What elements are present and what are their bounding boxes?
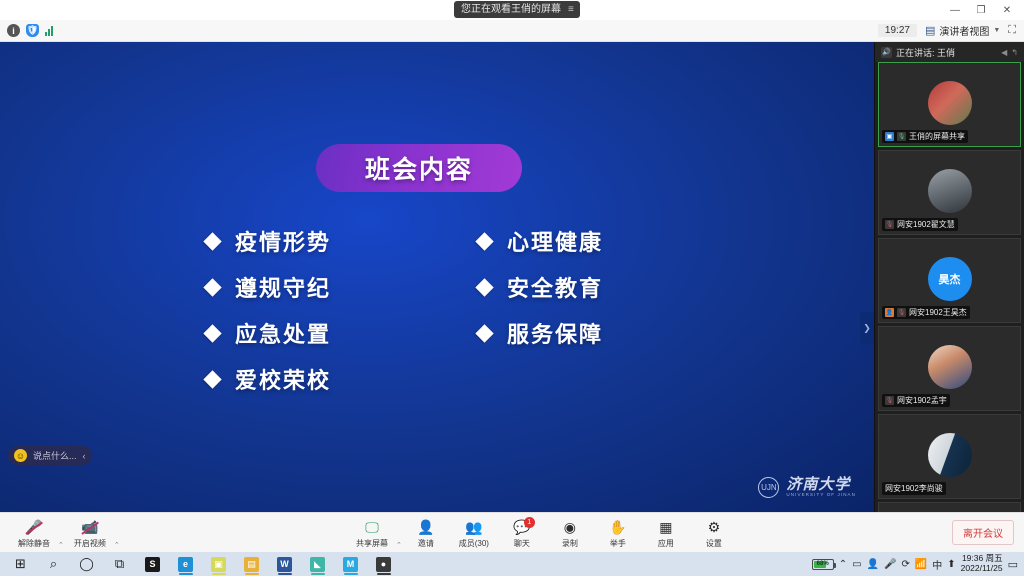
record-button[interactable]: ◉录制: [546, 516, 594, 549]
university-name-cn: 济南大学: [786, 477, 856, 493]
list-item: 遵规守纪: [206, 271, 478, 303]
minimize-button[interactable]: —: [942, 0, 968, 20]
invite-button-icon: 👤: [417, 519, 434, 536]
battery-percent: 68%: [813, 560, 833, 569]
keyboard-icon[interactable]: ▭: [852, 559, 861, 570]
meeting-info-icons: i 🛡: [0, 24, 53, 37]
running-indicator: [278, 573, 292, 575]
video-button-options-chevron-icon[interactable]: ⌃: [114, 541, 120, 549]
diamond-bullet-icon: [475, 232, 493, 250]
shared-screen-stage[interactable]: 班会内容 疫情形势 心理健康 遵规守纪 安全教育 应急处置: [0, 42, 874, 512]
active-speaker-header: 🔊 正在讲话: 王俏 ◀ ↰: [875, 42, 1024, 62]
participant-tile[interactable]: ▣🎙王俏的屏幕共享: [878, 62, 1021, 147]
info-icon[interactable]: i: [7, 24, 20, 37]
avatar: [928, 169, 972, 213]
participant-name-label: 👤🎙网安1902王昊杰: [882, 306, 970, 319]
university-seal-icon: UJN: [758, 477, 779, 498]
participant-name-label: 🎙网安1902孟宇: [882, 394, 950, 407]
running-indicator: [212, 573, 226, 575]
diamond-bullet-icon: [475, 324, 493, 342]
raise-hand-button[interactable]: ✋举手: [594, 516, 642, 549]
running-indicator: [245, 573, 259, 575]
signal-bars-icon[interactable]: [45, 25, 53, 36]
diamond-bullet-icon: [475, 278, 493, 296]
view-mode-label: 演讲者视图: [939, 23, 989, 38]
slide-bullet-grid: 疫情形势 心理健康 遵规守纪 安全教育 应急处置 服务保障: [206, 218, 706, 402]
photos-icon-glyph: ▣: [211, 557, 226, 572]
layout-icon: ▤: [925, 24, 935, 37]
xmind-icon[interactable]: M: [334, 552, 367, 576]
ime-icon[interactable]: 中: [932, 557, 942, 572]
participant-tile[interactable]: 昊杰👤🎙网安1902王昊杰: [878, 238, 1021, 323]
mute-button-options-chevron-icon[interactable]: ⌃: [58, 541, 64, 549]
search-icon[interactable]: ⌕: [37, 552, 70, 576]
participant-tile[interactable]: 🎙网安1902翟文慧: [878, 150, 1021, 235]
apps-button-label: 应用: [658, 538, 674, 549]
invite-button-label: 邀请: [418, 538, 434, 549]
mute-button[interactable]: 🎤解除静音: [10, 516, 58, 549]
screenshare-notice-pill[interactable]: 您正在观看王俏的屏幕 ≡: [454, 1, 580, 18]
word-icon-glyph: W: [277, 557, 292, 572]
chevron-up-icon[interactable]: ⌃: [839, 559, 847, 570]
participant-tile[interactable]: 网安1902李尚骏: [878, 414, 1021, 499]
host-icon: 👤: [885, 308, 894, 317]
avatar: 昊杰: [928, 257, 972, 301]
audio-video-controls: 🎤解除静音⌃📹开启视频⌃: [0, 516, 120, 549]
meeting-clock: 19:27: [878, 24, 917, 37]
running-indicator: [344, 573, 358, 575]
meeting-control-toolbar: 🎤解除静音⌃📹开启视频⌃ 🖵共享屏幕⌃👤邀请👥成员(30)💬1聊天◉录制✋举手▦…: [0, 512, 1024, 552]
list-item: 安全教育: [478, 271, 706, 303]
mini-chat-input-bar[interactable]: ☺ 说点什么... ‹: [8, 446, 92, 465]
participant-tile[interactable]: 🎙网安1902孟宇: [878, 326, 1021, 411]
list-item-label: 心理健康: [507, 225, 603, 257]
close-button[interactable]: ✕: [994, 0, 1020, 20]
cortana-icon[interactable]: ◯: [70, 552, 103, 576]
page-title: 班会内容: [365, 150, 473, 186]
unread-badge: 1: [524, 517, 535, 528]
user-icon[interactable]: 👤: [867, 559, 879, 570]
list-item: 应急处置: [206, 317, 478, 349]
participants-button-label: 成员(30): [459, 538, 489, 549]
shield-icon[interactable]: 🛡: [26, 24, 39, 37]
participant-name-label: 网安1902李尚骏: [882, 482, 946, 495]
mic-icon[interactable]: 🎤: [884, 559, 896, 570]
restore-button[interactable]: ❐: [968, 0, 994, 20]
wifi-icon[interactable]: 📶: [915, 559, 927, 570]
slide-title-pill: 班会内容: [316, 144, 522, 192]
mic-off-icon: 🎙: [897, 308, 906, 317]
browser-icon[interactable]: ●: [367, 552, 400, 576]
fullscreen-icon[interactable]: ⛶: [1008, 24, 1016, 37]
participant-name: 网安1902李尚骏: [885, 483, 943, 494]
raise-hand-button-icon: ✋: [609, 519, 626, 536]
notification-center-icon[interactable]: ▭: [1008, 558, 1018, 571]
zoom-meeting-window: 您正在观看王俏的屏幕 ≡ — ❐ ✕ i 🛡 19:27 ▤ 演讲者视图 ▼ ⛶: [0, 0, 1024, 576]
photos-icon[interactable]: ▣: [202, 552, 235, 576]
running-indicator: [377, 573, 391, 575]
apps-button-icon: ▦: [659, 519, 672, 536]
panel-scroll-controls[interactable]: ◀ ↰: [1001, 48, 1018, 57]
sync-icon[interactable]: ⟳: [901, 559, 909, 570]
raise-hand-button-label: 举手: [610, 538, 626, 549]
list-item-label: 应急处置: [235, 317, 331, 349]
window-controls: — ❐ ✕: [942, 0, 1020, 20]
active-speaker-label: 正在讲话: 王俏: [896, 46, 955, 59]
participant-name-label: ▣🎙王俏的屏幕共享: [882, 130, 968, 143]
browser-icon-glyph: ●: [376, 557, 391, 572]
taskbar-date: 2022/11/25: [961, 564, 1003, 574]
list-item-label: 安全教育: [507, 271, 603, 303]
meeting-action-buttons: 🖵共享屏幕⌃👤邀请👥成员(30)💬1聊天◉录制✋举手▦应用⚙设置: [348, 516, 738, 549]
university-name-en: UNIVERSITY OF JINAN: [786, 493, 856, 498]
avatar: [928, 345, 972, 389]
avatar: [928, 433, 972, 477]
participant-name-label: 🎙网安1902翟文慧: [882, 218, 958, 231]
video-button-label: 开启视频: [74, 538, 106, 549]
wps-icon[interactable]: ◣: [301, 552, 334, 576]
wps-icon-glyph: ◣: [310, 557, 325, 572]
share-screen-button-label: 共享屏幕: [356, 538, 388, 549]
settings-button[interactable]: ⚙设置: [690, 516, 738, 549]
participants-button-icon: 👥: [465, 519, 482, 536]
mute-button-label: 解除静音: [18, 538, 50, 549]
mic-on-icon: 🎙: [897, 132, 906, 141]
screenshare-notice-text: 您正在观看王俏的屏幕: [461, 1, 561, 18]
participant-tile-list: ▣🎙王俏的屏幕共享🎙网安1902翟文慧昊杰👤🎙网安1902王昊杰🎙网安1902孟…: [875, 62, 1024, 576]
mute-button-icon: 🎤: [25, 519, 42, 536]
settings-button-icon: ⚙: [708, 519, 721, 536]
system-tray: 68% ⌃ ▭ 👤 🎤 ⟳ 📶 中 ⬆ 19:36 周五 2022/11/25 …: [812, 554, 1024, 574]
edge-icon[interactable]: e: [169, 552, 202, 576]
university-logo: UJN 济南大学 UNIVERSITY OF JINAN: [758, 477, 856, 498]
list-item: 服务保障: [478, 317, 706, 349]
chat-input-placeholder[interactable]: 说点什么...: [33, 449, 77, 462]
hamburger-icon[interactable]: ≡: [568, 1, 573, 18]
chevron-down-icon[interactable]: ▼: [993, 27, 1000, 34]
meeting-view-controls: 19:27 ▤ 演讲者视图 ▼ ⛶: [878, 23, 1024, 38]
panel-collapse-handle[interactable]: ❯: [860, 312, 874, 344]
view-mode-selector[interactable]: ▤ 演讲者视图 ▼: [925, 23, 1000, 38]
record-button-label: 录制: [562, 538, 578, 549]
video-button[interactable]: 📹开启视频: [66, 516, 114, 549]
scroll-prev-icon[interactable]: ◀: [1001, 48, 1007, 57]
update-icon[interactable]: ⬆: [947, 559, 955, 570]
chat-button-label: 聊天: [514, 538, 530, 549]
share-icon: ▣: [885, 132, 894, 141]
start-icon[interactable]: ⊞: [4, 552, 37, 576]
list-item: 爱校荣校: [206, 363, 478, 395]
file-explorer-icon[interactable]: ▤: [235, 552, 268, 576]
diamond-bullet-icon: [203, 324, 221, 342]
participant-name: 网安1902王昊杰: [909, 307, 967, 318]
participants-panel: 🔊 正在讲话: 王俏 ◀ ↰ ▣🎙王俏的屏幕共享🎙网安1902翟文慧昊杰👤🎙网安…: [874, 42, 1024, 512]
settings-button-label: 设置: [706, 538, 722, 549]
diamond-bullet-icon: [203, 278, 221, 296]
list-item-label: 爱校荣校: [235, 363, 331, 395]
word-icon[interactable]: W: [268, 552, 301, 576]
participant-name: 王俏的屏幕共享: [909, 131, 965, 142]
battery-icon[interactable]: 68%: [812, 559, 834, 570]
video-button-icon: 📹: [81, 519, 98, 536]
list-item-label: 遵规守纪: [235, 271, 331, 303]
file-explorer-icon-glyph: ▤: [244, 557, 259, 572]
list-item-label: 疫情形势: [235, 225, 331, 257]
leave-meeting-button[interactable]: 离开会议: [952, 520, 1014, 545]
taskbar-icons: ⊞⌕◯⧉Se▣▤W◣M●: [0, 552, 400, 576]
list-item: 心理健康: [478, 225, 706, 257]
emoji-icon[interactable]: ☺: [14, 449, 27, 462]
xmind-icon-glyph: M: [343, 557, 358, 572]
mic-off-icon: 🎙: [885, 220, 894, 229]
record-button-icon: ◉: [564, 519, 576, 536]
share-screen-button[interactable]: 🖵共享屏幕: [348, 516, 396, 549]
speaker-icon: 🔊: [881, 47, 892, 58]
scroll-back-icon[interactable]: ↰: [1011, 48, 1018, 57]
avatar: [928, 81, 972, 125]
chevron-left-icon[interactable]: ‹: [83, 451, 86, 461]
running-indicator: [311, 573, 325, 575]
participant-name: 网安1902孟宇: [897, 395, 947, 406]
zoom-meeting-icon[interactable]: S: [136, 552, 169, 576]
taskbar-clock[interactable]: 19:36 周五 2022/11/25: [961, 554, 1003, 574]
zoom-meeting-icon-glyph: S: [145, 557, 160, 572]
invite-button[interactable]: 👤邀请: [402, 516, 450, 549]
chat-button[interactable]: 💬1聊天: [498, 516, 546, 549]
running-indicator: [179, 573, 193, 575]
mic-off-icon: 🎙: [885, 396, 894, 405]
list-item: 疫情形势: [206, 225, 478, 257]
meeting-top-toolbar: i 🛡 19:27 ▤ 演讲者视图 ▼ ⛶: [0, 20, 1024, 42]
participants-button[interactable]: 👥成员(30): [450, 516, 498, 549]
diamond-bullet-icon: [203, 370, 221, 388]
share-screen-button-icon: 🖵: [365, 519, 379, 536]
participant-name: 网安1902翟文慧: [897, 219, 955, 230]
window-titlebar: 您正在观看王俏的屏幕 ≡ — ❐ ✕: [0, 0, 1024, 20]
windows-taskbar: ⊞⌕◯⧉Se▣▤W◣M● 68% ⌃ ▭ 👤 🎤 ⟳ 📶 中 ⬆ 19:36 周…: [0, 552, 1024, 576]
task-view-icon[interactable]: ⧉: [103, 552, 136, 576]
diamond-bullet-icon: [203, 232, 221, 250]
edge-icon-glyph: e: [178, 557, 193, 572]
list-item-label: 服务保障: [507, 317, 603, 349]
apps-button[interactable]: ▦应用: [642, 516, 690, 549]
